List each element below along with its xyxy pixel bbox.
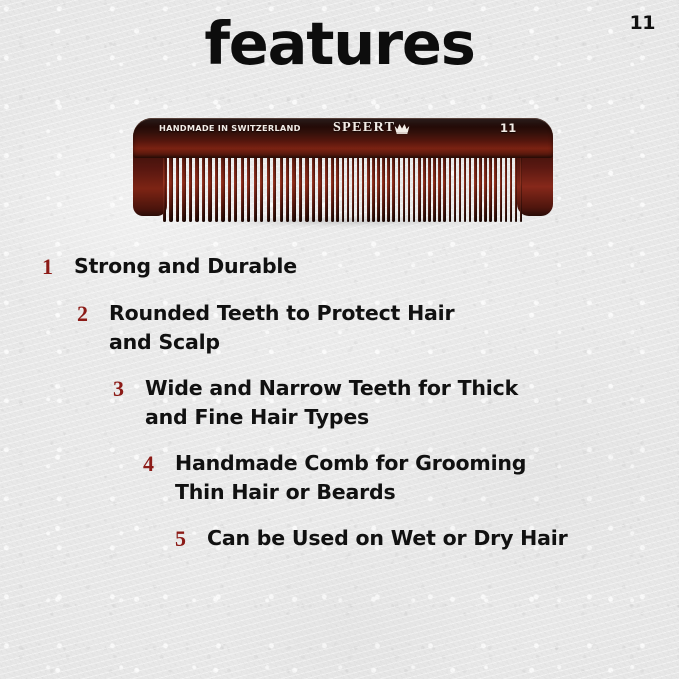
comb-tooth bbox=[377, 152, 380, 222]
feature-label-line: Can be Used on Wet or Dry Hair bbox=[207, 524, 568, 553]
comb-tooth bbox=[438, 152, 441, 222]
comb-tooth bbox=[392, 152, 395, 222]
comb-tooth bbox=[403, 152, 406, 222]
comb-tooth bbox=[195, 152, 198, 222]
comb-tooth bbox=[515, 152, 518, 222]
comb-tooth bbox=[489, 152, 492, 222]
comb-tooth bbox=[367, 152, 370, 222]
comb-tooth bbox=[215, 152, 218, 222]
feature-item: 2Rounded Teeth to Protect Hairand Scalp bbox=[0, 299, 679, 357]
comb-tooth bbox=[443, 152, 446, 222]
comb-teeth-row bbox=[133, 152, 553, 228]
comb-tooth bbox=[413, 152, 416, 222]
comb-tooth bbox=[299, 152, 302, 222]
page-number: 11 bbox=[630, 12, 655, 34]
comb-tooth bbox=[286, 152, 289, 222]
comb-tooth bbox=[479, 152, 482, 222]
feature-label-line: Handmade Comb for Grooming bbox=[175, 449, 526, 478]
comb-tooth bbox=[418, 152, 421, 222]
comb-origin-engraving: HANDMADE IN SWITZERLAND bbox=[159, 123, 301, 133]
comb-tooth bbox=[433, 152, 436, 222]
comb-tooth bbox=[408, 152, 411, 222]
feature-item: 1Strong and Durable bbox=[0, 252, 679, 282]
comb-tooth bbox=[267, 152, 270, 222]
comb-tooth bbox=[428, 152, 431, 222]
feature-label-line: Rounded Teeth to Protect Hair bbox=[109, 299, 454, 328]
comb-tooth bbox=[228, 152, 231, 222]
comb-tooth bbox=[273, 152, 276, 222]
comb-tooth bbox=[449, 152, 452, 222]
comb-tooth bbox=[336, 152, 339, 222]
comb-tooth bbox=[347, 152, 350, 222]
comb-tooth bbox=[520, 152, 523, 222]
feature-number: 5 bbox=[175, 524, 199, 554]
feature-label: Rounded Teeth to Protect Hairand Scalp bbox=[109, 299, 454, 357]
comb-tooth bbox=[312, 152, 315, 222]
comb-tooth bbox=[387, 152, 390, 222]
feature-number: 3 bbox=[113, 374, 137, 404]
comb-tooth bbox=[398, 152, 401, 222]
comb-tooth bbox=[260, 152, 263, 222]
feature-label: Can be Used on Wet or Dry Hair bbox=[207, 524, 568, 553]
feature-label-line: and Scalp bbox=[109, 328, 454, 357]
comb-tooth bbox=[189, 152, 192, 222]
feature-item: 4Handmade Comb for GroomingThin Hair or … bbox=[0, 449, 679, 507]
comb-tooth bbox=[342, 152, 345, 222]
page-title: features bbox=[0, 12, 679, 76]
comb-model-engraving: 11 bbox=[500, 121, 517, 135]
comb-tooth bbox=[454, 152, 457, 222]
feature-label-line: and Fine Hair Types bbox=[145, 403, 518, 432]
comb-tooth bbox=[352, 152, 355, 222]
feature-label: Strong and Durable bbox=[74, 252, 297, 281]
comb-tooth bbox=[305, 152, 308, 222]
comb-tooth bbox=[423, 152, 426, 222]
comb-brand-engraving: SPEERT bbox=[333, 120, 395, 136]
comb-tooth bbox=[372, 152, 375, 222]
comb-tooth bbox=[469, 152, 472, 222]
comb-tooth bbox=[494, 152, 497, 222]
crown-icon bbox=[394, 123, 410, 134]
feature-item: 5Can be Used on Wet or Dry Hair bbox=[0, 524, 679, 554]
comb-tooth bbox=[241, 152, 244, 222]
comb-product-image: HANDMADE IN SWITZERLAND SPEERT 11 bbox=[133, 118, 553, 232]
comb-tooth bbox=[362, 152, 365, 222]
feature-label-line: Thin Hair or Beards bbox=[175, 478, 526, 507]
comb-tooth bbox=[464, 152, 467, 222]
comb-tooth bbox=[254, 152, 257, 222]
comb-tooth bbox=[176, 152, 179, 222]
comb-tooth bbox=[505, 152, 508, 222]
feature-number: 1 bbox=[42, 252, 66, 282]
comb-tooth bbox=[202, 152, 205, 222]
comb-tooth bbox=[163, 152, 166, 222]
feature-number: 2 bbox=[77, 299, 101, 329]
comb-tooth bbox=[318, 152, 321, 222]
comb-tooth bbox=[474, 152, 477, 222]
comb-tooth bbox=[500, 152, 503, 222]
feature-list: 1Strong and Durable2Rounded Teeth to Pro… bbox=[0, 252, 679, 571]
feature-label: Handmade Comb for GroomingThin Hair or B… bbox=[175, 449, 526, 507]
comb-tooth bbox=[234, 152, 237, 222]
feature-label-line: Wide and Narrow Teeth for Thick bbox=[145, 374, 518, 403]
comb-tooth bbox=[247, 152, 250, 222]
feature-item: 3Wide and Narrow Teeth for Thickand Fine… bbox=[0, 374, 679, 432]
comb-tooth bbox=[484, 152, 487, 222]
comb-tooth bbox=[221, 152, 224, 222]
comb-tooth bbox=[331, 152, 334, 222]
comb-tooth bbox=[357, 152, 360, 222]
feature-label-line: Strong and Durable bbox=[74, 252, 297, 281]
feature-label: Wide and Narrow Teeth for Thickand Fine … bbox=[145, 374, 518, 432]
comb-tooth bbox=[292, 152, 295, 222]
comb-tooth bbox=[280, 152, 283, 222]
comb-tooth bbox=[510, 152, 513, 222]
feature-number: 4 bbox=[143, 449, 167, 479]
comb-tooth bbox=[182, 152, 185, 222]
comb-tooth bbox=[382, 152, 385, 222]
comb-tooth bbox=[208, 152, 211, 222]
comb-tooth bbox=[459, 152, 462, 222]
comb-tooth bbox=[169, 152, 172, 222]
comb-tooth bbox=[325, 152, 328, 222]
product-feature-poster: features 11 HANDMADE IN SWITZERLAND SPEE… bbox=[0, 0, 679, 679]
